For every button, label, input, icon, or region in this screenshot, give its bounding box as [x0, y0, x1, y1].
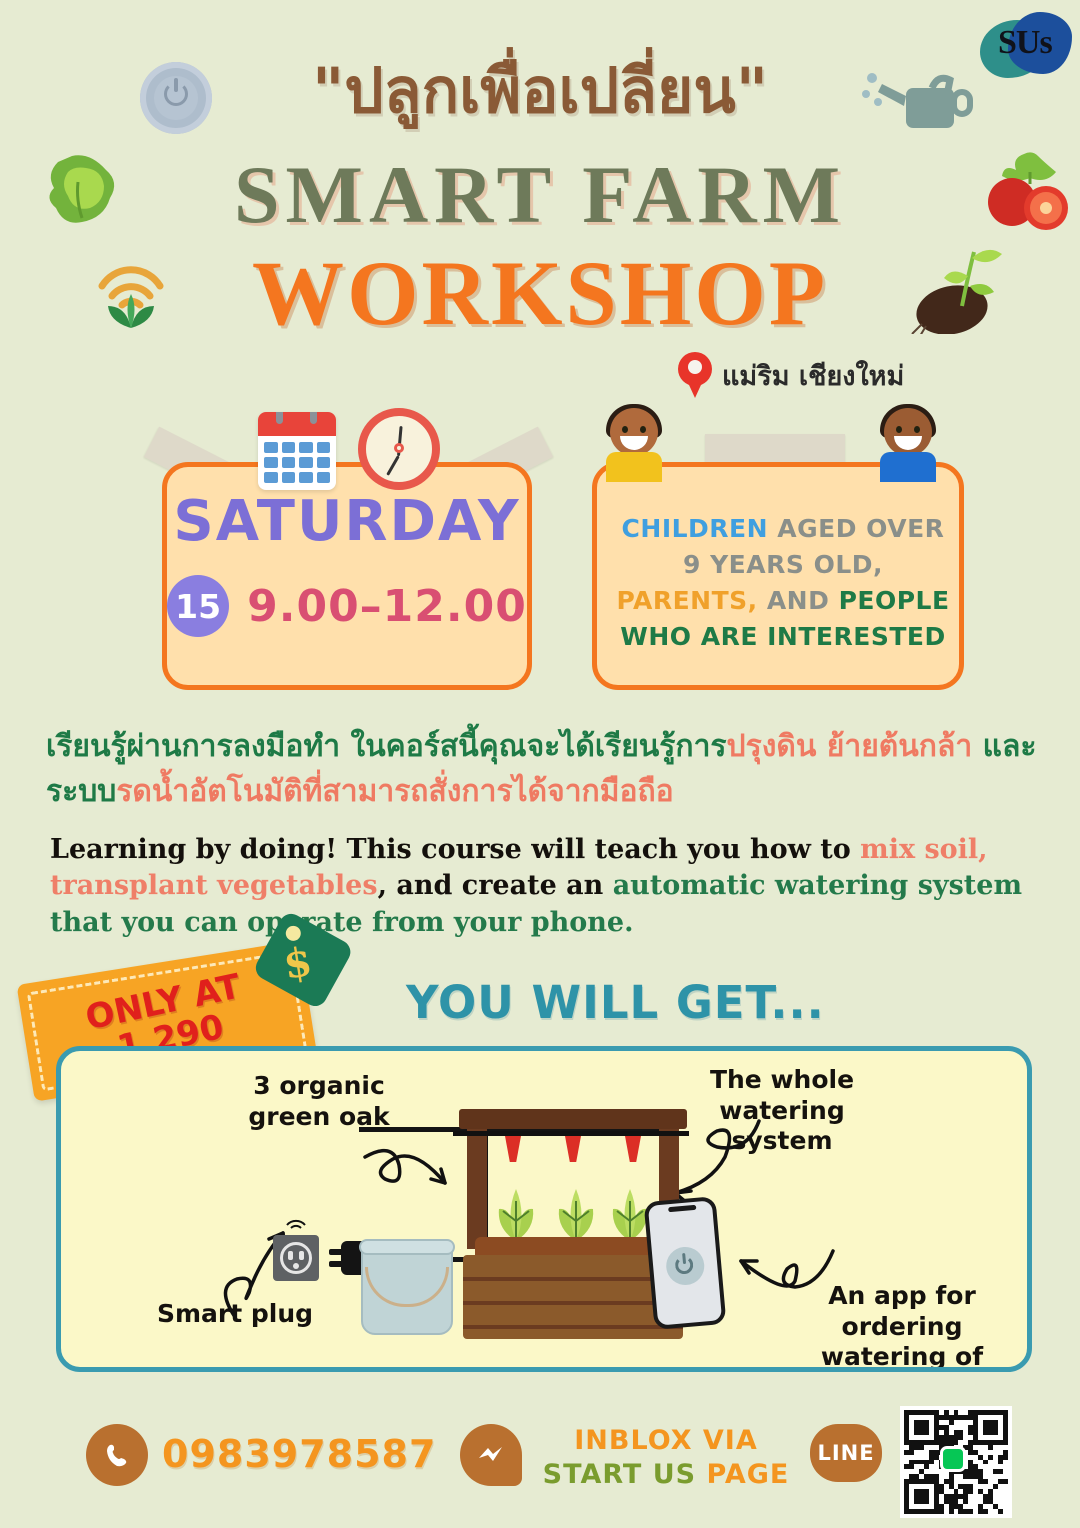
wifi-signal-icon — [285, 1213, 307, 1229]
curly-arrow-app-icon — [729, 1241, 839, 1311]
thai-seg-1: เรียนรู้ผ่านการลงมือทำ ในคอร์สนี้คุณจะได… — [46, 729, 727, 764]
time-range: 9.00–12.00 — [247, 581, 527, 632]
avatar-boy — [876, 408, 940, 478]
location-row: แม่ริม เชียงใหม่ — [678, 352, 904, 398]
label-organic-oak: 3 organic green oak — [209, 1071, 429, 1132]
green-oak-plant-icon — [549, 1181, 603, 1243]
messenger-text[interactable]: INBLOX VIA START US PAGE — [536, 1424, 796, 1492]
date-card: SATURDAY 15 9.00–12.00 — [162, 462, 532, 690]
messenger-glyph-icon — [474, 1438, 508, 1472]
avatar-girl — [602, 408, 666, 478]
messenger-line-2b: PAGE — [707, 1459, 790, 1490]
messenger-line-2a: START US — [543, 1459, 696, 1490]
smartphone-app-icon — [644, 1196, 727, 1330]
thai-tagline: "ปลูกเพื่อเปลี่ยน" — [0, 42, 1080, 140]
you-will-get-heading: YOU WILL GET... — [406, 976, 825, 1029]
audience-seg-and: AND — [758, 586, 839, 615]
map-pin-icon — [678, 352, 712, 398]
day-number-badge: 15 — [167, 575, 229, 637]
messenger-icon[interactable] — [460, 1424, 522, 1486]
page-title-workshop: WORKSHOP — [0, 240, 1080, 346]
green-oak-plant-icon — [489, 1181, 543, 1243]
line-qr-code[interactable] — [900, 1406, 1012, 1518]
location-text: แม่ริม เชียงใหม่ — [722, 354, 904, 397]
messenger-line-1: INBLOX VIA — [574, 1425, 758, 1456]
description-english: Learning by doing! This course will teac… — [50, 832, 1050, 941]
clock-icon — [358, 408, 440, 490]
phone-icon[interactable] — [86, 1424, 148, 1486]
thai-seg-4: รดน้ำอัตโนมัติที่สามารถสั่งการได้จากมือถ… — [116, 774, 673, 809]
line-label: LINE — [817, 1441, 874, 1465]
date-time-row: 15 9.00–12.00 — [167, 575, 527, 637]
water-bucket-icon — [361, 1243, 453, 1335]
currency-symbol: $ — [280, 938, 315, 989]
inclusions-illustration: 3 organic green oak Smart plug The whole… — [56, 1046, 1032, 1372]
smart-plug-socket-icon — [273, 1235, 319, 1281]
calendar-icon — [258, 412, 336, 490]
audience-text: CHILDREN AGED OVER 9 YEARS OLD, PARENTS,… — [613, 511, 953, 655]
audience-seg-parents: PARENTS, — [616, 586, 757, 615]
description-thai: เรียนรู้ผ่านการลงมือทำ ในคอร์สนี้คุณจะได… — [46, 724, 1046, 814]
day-label: SATURDAY — [167, 489, 527, 554]
poster-canvas: SUs "ป — [0, 0, 1080, 1528]
thai-seg-2: ปรุงดิน ย้ายต้นกล้า — [727, 729, 973, 764]
eng-seg-1: Learning by doing! This course will teac… — [50, 834, 860, 865]
phone-glyph-icon — [101, 1439, 133, 1471]
page-title-smart-farm: SMART FARM — [0, 148, 1080, 242]
eng-seg-3: , and create an — [378, 870, 613, 901]
phone-number[interactable]: 0983978587 — [162, 1432, 436, 1476]
audience-card: CHILDREN AGED OVER 9 YEARS OLD, PARENTS,… — [592, 462, 964, 690]
qr-line-badge-icon — [940, 1446, 966, 1472]
line-icon[interactable]: LINE — [810, 1424, 882, 1482]
audience-seg-children: CHILDREN — [622, 514, 769, 543]
